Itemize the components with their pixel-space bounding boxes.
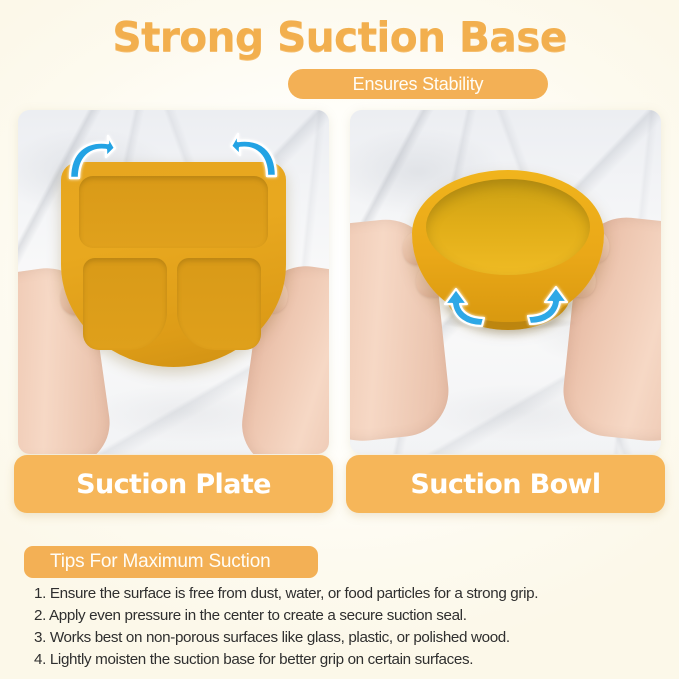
plate-compartment-bottom-right: [177, 258, 261, 350]
caption-suction-bowl: Suction Bowl: [346, 455, 665, 513]
tip-item: 3. Works best on non-porous surfaces lik…: [34, 627, 654, 649]
suction-plate-product: [61, 162, 286, 367]
tip-item: 4. Lightly moisten the suction base for …: [34, 649, 654, 671]
photo-suction-bowl: [350, 110, 661, 454]
card-suction-bowl: Suction Bowl: [346, 110, 665, 515]
tips-badge-label: Tips For Maximum Suction: [50, 551, 270, 573]
header: Strong Suction Base Ensures Stability: [0, 0, 679, 104]
suction-arrow-left-icon: [442, 286, 490, 330]
tips-badge: Tips For Maximum Suction: [24, 546, 318, 578]
tips-list: 1. Ensure the surface is free from dust,…: [34, 583, 654, 671]
bowl-interior: [426, 179, 590, 275]
plate-compartment-top: [79, 176, 268, 248]
subtitle-text: Ensures Stability: [353, 74, 484, 95]
page-title: Strong Suction Base: [0, 13, 679, 61]
card-suction-plate: Suction Plate: [14, 110, 333, 515]
tip-item: 1. Ensure the surface is free from dust,…: [34, 583, 654, 605]
plate-compartment-bottom-left: [83, 258, 167, 350]
caption-suction-plate: Suction Plate: [14, 455, 333, 513]
subtitle-badge: Ensures Stability: [288, 69, 548, 99]
suction-arrow-right-icon: [522, 284, 570, 328]
photo-suction-plate: [18, 110, 329, 454]
suction-arrow-right-icon: [230, 132, 282, 178]
suction-arrow-left-icon: [64, 134, 116, 180]
infographic-page: Strong Suction Base Ensures Stability: [0, 0, 679, 679]
caption-label: Suction Plate: [76, 469, 271, 500]
tip-item: 2. Apply even pressure in the center to …: [34, 605, 654, 627]
caption-label: Suction Bowl: [410, 469, 600, 500]
